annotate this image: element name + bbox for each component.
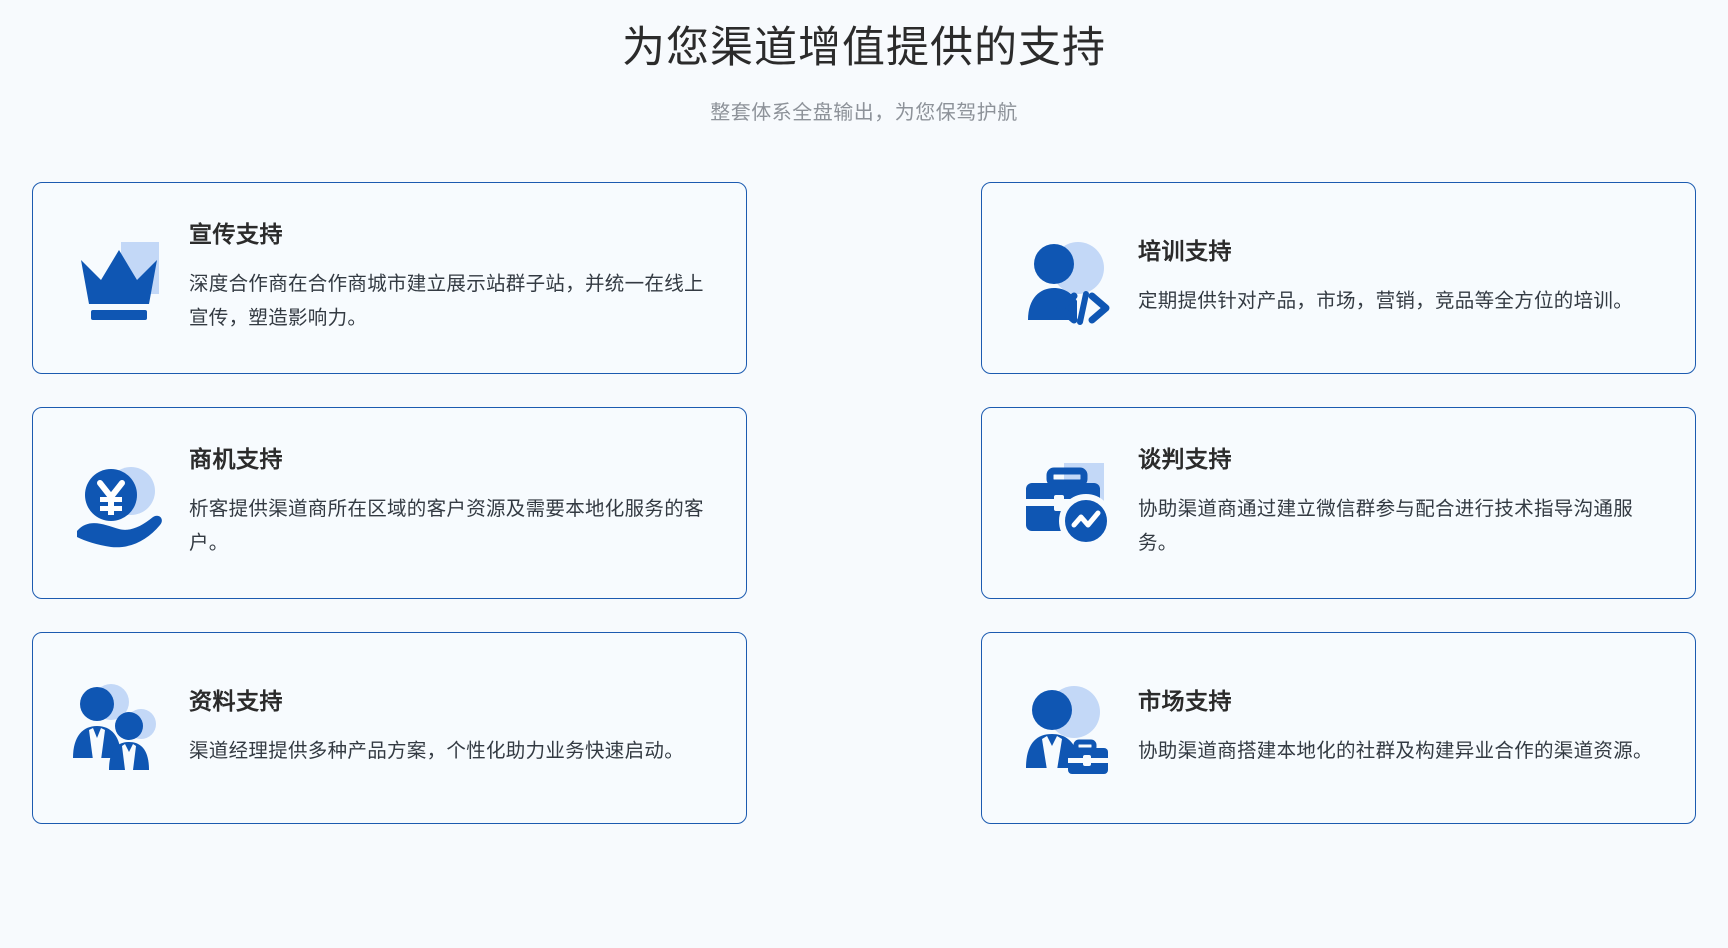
card-title: 培训支持 (1138, 238, 1667, 266)
support-card-promotion[interactable]: 宣传支持 深度合作商在合作商城市建立展示站群子站，并统一在线上宣传，塑造影响力。 (32, 182, 747, 374)
card-title: 商机支持 (189, 446, 718, 474)
people-group-icon (53, 668, 185, 788)
card-title: 宣传支持 (189, 221, 718, 249)
card-body: 资料支持 渠道经理提供多种产品方案，个性化助力业务快速启动。 (185, 688, 718, 768)
card-title: 谈判支持 (1138, 446, 1667, 474)
card-title: 市场支持 (1138, 688, 1667, 716)
section-header: 为您渠道增值提供的支持 整套体系全盘输出，为您保驾护航 (0, 0, 1728, 125)
card-description: 析客提供渠道商所在区域的客户资源及需要本地化服务的客户。 (189, 492, 718, 560)
card-description: 协助渠道商通过建立微信群参与配合进行技术指导沟通服务。 (1138, 492, 1667, 560)
support-card-negotiation[interactable]: 谈判支持 协助渠道商通过建立微信群参与配合进行技术指导沟通服务。 (981, 407, 1696, 599)
person-briefcase-icon (1002, 668, 1134, 788)
support-card-opportunity[interactable]: 商机支持 析客提供渠道商所在区域的客户资源及需要本地化服务的客户。 (32, 407, 747, 599)
page-title: 为您渠道增值提供的支持 (0, 22, 1728, 76)
card-body: 商机支持 析客提供渠道商所在区域的客户资源及需要本地化服务的客户。 (185, 446, 718, 560)
support-card-materials[interactable]: 资料支持 渠道经理提供多种产品方案，个性化助力业务快速启动。 (32, 632, 747, 824)
card-description: 渠道经理提供多种产品方案，个性化助力业务快速启动。 (189, 734, 718, 768)
crown-icon (53, 218, 185, 338)
briefcase-chart-icon (1002, 443, 1134, 563)
card-body: 宣传支持 深度合作商在合作商城市建立展示站群子站，并统一在线上宣传，塑造影响力。 (185, 221, 718, 335)
card-title: 资料支持 (189, 688, 718, 716)
card-description: 深度合作商在合作商城市建立展示站群子站，并统一在线上宣传，塑造影响力。 (189, 267, 718, 335)
support-card-market[interactable]: 市场支持 协助渠道商搭建本地化的社群及构建异业合作的渠道资源。 (981, 632, 1696, 824)
card-description: 定期提供针对产品，市场，营销，竞品等全方位的培训。 (1138, 284, 1667, 318)
yen-hand-icon (53, 443, 185, 563)
card-description: 协助渠道商搭建本地化的社群及构建异业合作的渠道资源。 (1138, 734, 1667, 768)
support-section-page: 为您渠道增值提供的支持 整套体系全盘输出，为您保驾护航 宣传支持 深度合作商在合… (0, 0, 1728, 948)
card-body: 培训支持 定期提供针对产品，市场，营销，竞品等全方位的培训。 (1134, 238, 1667, 318)
support-cards-grid: 宣传支持 深度合作商在合作商城市建立展示站群子站，并统一在线上宣传，塑造影响力。… (32, 182, 1696, 824)
card-body: 市场支持 协助渠道商搭建本地化的社群及构建异业合作的渠道资源。 (1134, 688, 1667, 768)
card-body: 谈判支持 协助渠道商通过建立微信群参与配合进行技术指导沟通服务。 (1134, 446, 1667, 560)
page-subtitle: 整套体系全盘输出，为您保驾护航 (0, 96, 1728, 125)
person-code-icon (1002, 218, 1134, 338)
support-card-training[interactable]: 培训支持 定期提供针对产品，市场，营销，竞品等全方位的培训。 (981, 182, 1696, 374)
